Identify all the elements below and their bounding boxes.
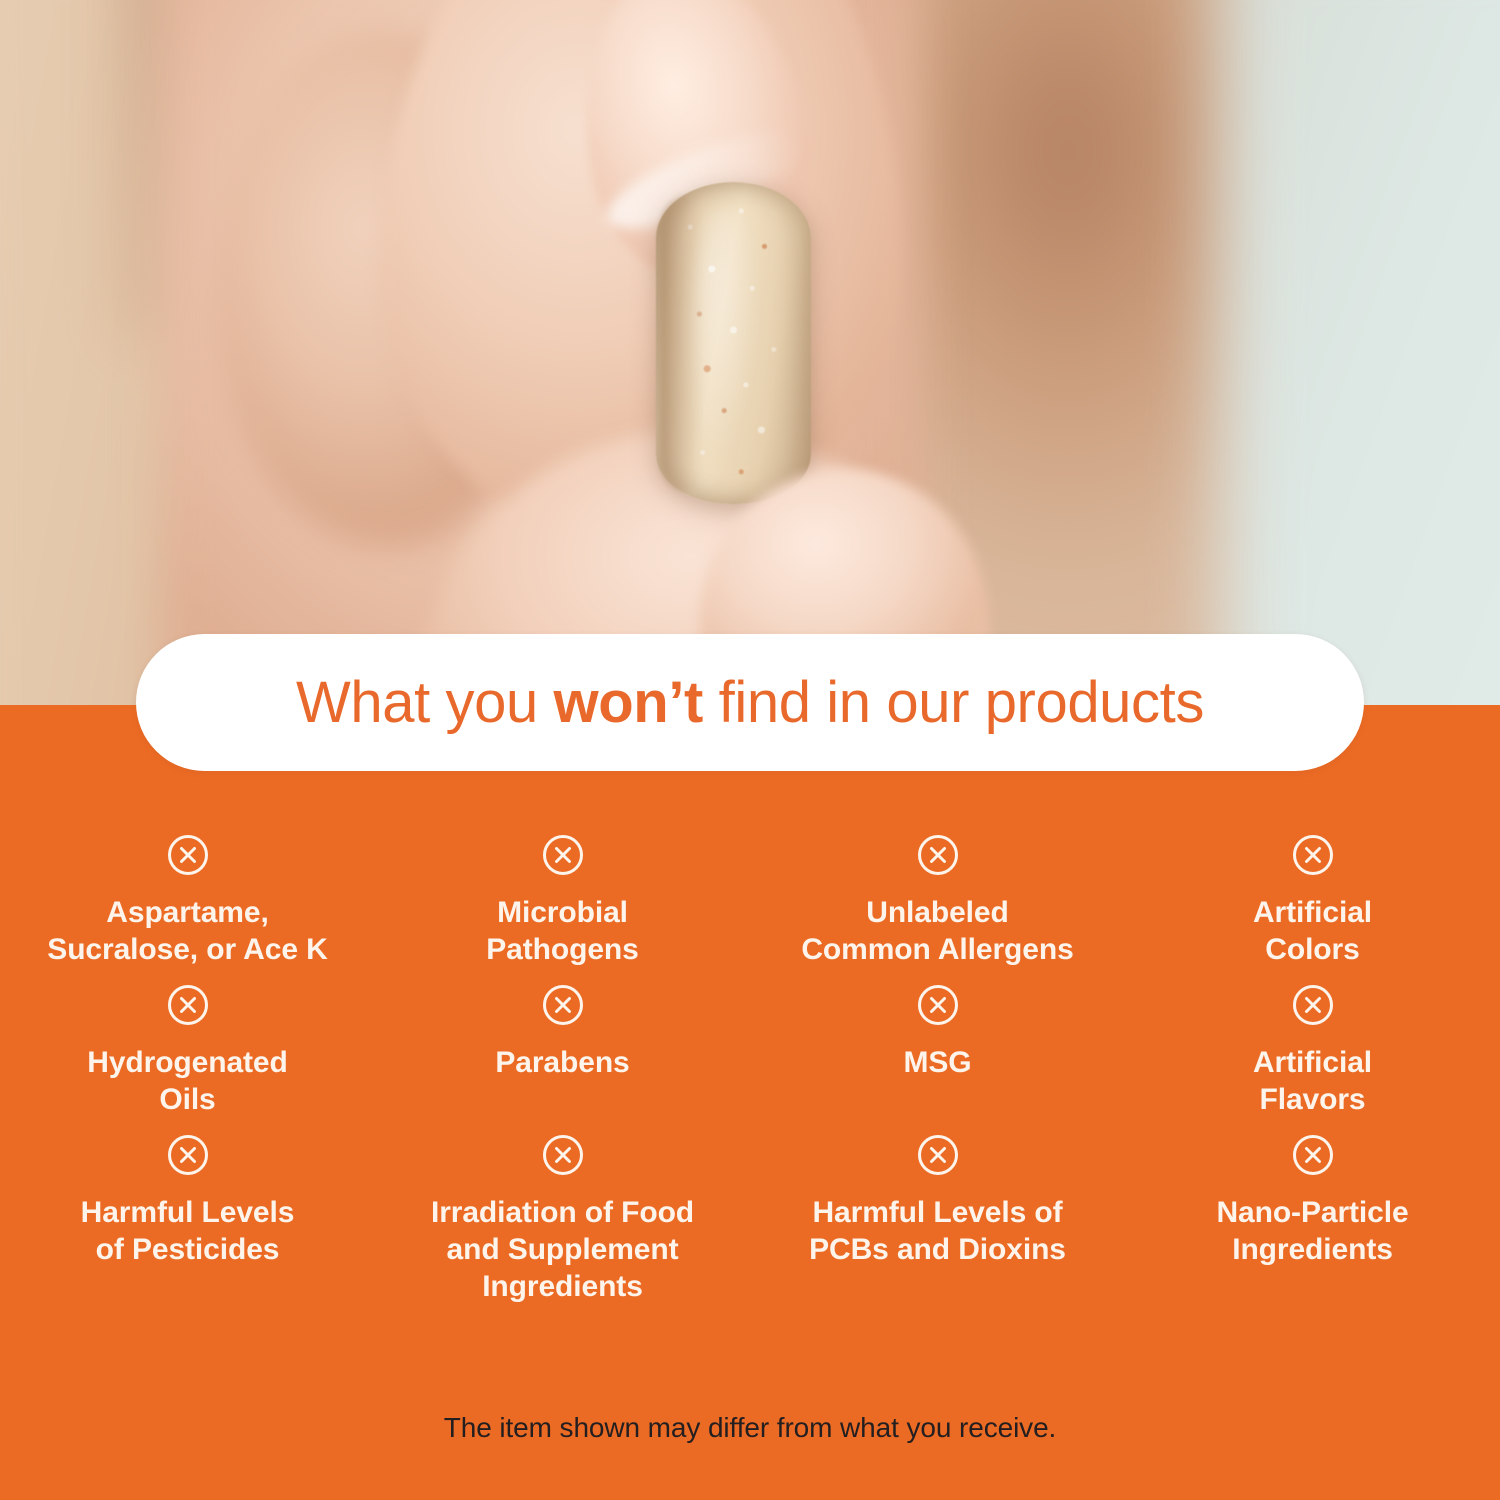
disclaimer: The item shown may differ from what you … [0, 1412, 1500, 1444]
circle-x-icon [542, 984, 584, 1026]
circle-x-icon [542, 834, 584, 876]
exclusion-label: Nano-Particle Ingredients [1216, 1195, 1408, 1268]
page-title-emphasis: won’t [554, 670, 703, 735]
exclusion-item: Hydrogenated Oils [0, 968, 375, 1118]
exclusion-grid: Aspartame, Sucralose, or Ace K Microbial… [0, 818, 1500, 1305]
exclusion-item: Unlabeled Common Allergens [750, 818, 1125, 968]
page-title-before: What you [296, 670, 554, 735]
exclusion-label: Artificial Colors [1253, 895, 1372, 968]
exclusion-item: MSG [750, 968, 1125, 1118]
circle-x-icon [1292, 1134, 1334, 1176]
circle-x-icon [917, 834, 959, 876]
headline-card: What you won’t find in our products [136, 634, 1364, 771]
exclusion-item: Parabens [375, 968, 750, 1118]
exclusion-label: Harmful Levels of PCBs and Dioxins [809, 1195, 1066, 1268]
circle-x-icon [167, 834, 209, 876]
circle-x-icon [1292, 984, 1334, 1026]
exclusion-item: Aspartame, Sucralose, or Ace K [0, 818, 375, 968]
product-claims-graphic: What you won’t find in our products Aspa… [0, 0, 1500, 1500]
hero-photo [0, 0, 1500, 710]
page-title-after: find in our products [703, 670, 1204, 735]
exclusion-item: Harmful Levels of Pesticides [0, 1118, 375, 1305]
exclusion-item: Nano-Particle Ingredients [1125, 1118, 1500, 1305]
exclusion-item: Artificial Flavors [1125, 968, 1500, 1118]
exclusion-label: Hydrogenated Oils [87, 1045, 288, 1118]
exclusion-label: MSG [903, 1045, 971, 1082]
exclusion-item: Artificial Colors [1125, 818, 1500, 968]
page-title: What you won’t find in our products [296, 674, 1204, 732]
exclusion-item: Harmful Levels of PCBs and Dioxins [750, 1118, 1125, 1305]
exclusion-label: Unlabeled Common Allergens [801, 895, 1073, 968]
circle-x-icon [542, 1134, 584, 1176]
exclusion-item: Microbial Pathogens [375, 818, 750, 968]
exclusion-label: Irradiation of Food and Supplement Ingre… [431, 1195, 694, 1305]
circle-x-icon [167, 1134, 209, 1176]
tablet-highlight [690, 210, 760, 460]
exclusion-item: Irradiation of Food and Supplement Ingre… [375, 1118, 750, 1305]
exclusion-label: Aspartame, Sucralose, or Ace K [47, 895, 327, 968]
circle-x-icon [917, 984, 959, 1026]
photo-background-mint [1220, 0, 1500, 710]
circle-x-icon [1292, 834, 1334, 876]
circle-x-icon [167, 984, 209, 1026]
exclusion-label: Harmful Levels of Pesticides [81, 1195, 295, 1268]
disclaimer-text: The item shown may differ from what you … [444, 1412, 1057, 1443]
circle-x-icon [917, 1134, 959, 1176]
exclusion-label: Parabens [495, 1045, 629, 1082]
exclusion-label: Artificial Flavors [1253, 1045, 1372, 1118]
exclusion-label: Microbial Pathogens [486, 895, 638, 968]
